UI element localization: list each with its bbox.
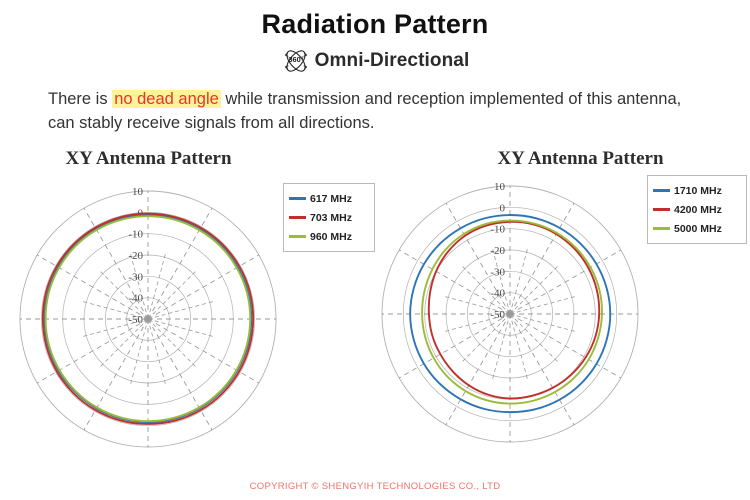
legend-label: 617 MHz xyxy=(310,193,352,205)
chart-title-right: XY Antenna Pattern xyxy=(375,146,750,172)
page-title: Radiation Pattern xyxy=(0,0,750,38)
chart-title-left: XY Antenna Pattern xyxy=(0,146,375,172)
legend-label: 1710 MHz xyxy=(674,185,722,197)
svg-text:-50: -50 xyxy=(490,309,505,321)
intro-text-before: There is xyxy=(48,90,112,108)
legend-item[interactable]: 5000 MHz xyxy=(653,219,738,238)
svg-text:-30: -30 xyxy=(490,267,505,279)
legend-item[interactable]: 1710 MHz xyxy=(653,181,738,200)
footer-copyright: COPYRIGHT © SHENGYIH TECHNOLOGIES CO., L… xyxy=(0,481,750,492)
legend-item[interactable]: 960 MHz xyxy=(289,227,366,246)
legend-swatch-5000 xyxy=(653,227,670,230)
svg-text:10: 10 xyxy=(132,186,144,198)
legend-label: 4200 MHz xyxy=(674,204,722,216)
legend-swatch-4200 xyxy=(653,208,670,211)
legend-swatch-617 xyxy=(289,197,306,200)
legend-swatch-960 xyxy=(289,235,306,238)
svg-text:-20: -20 xyxy=(490,245,505,257)
charts-container: XY Antenna Pattern 100-10-20-30-40-50 61… xyxy=(0,146,750,466)
subtitle-label: Omni-Directional xyxy=(315,50,470,72)
svg-text:-30: -30 xyxy=(128,272,143,284)
chart-xy-antenna-pattern-high: XY Antenna Pattern 100-10-20-30-40-50 17… xyxy=(375,146,750,464)
svg-text:-10: -10 xyxy=(128,229,143,241)
legend-item[interactable]: 617 MHz xyxy=(289,189,366,208)
legend-swatch-703 xyxy=(289,216,306,219)
legend-swatch-1710 xyxy=(653,189,670,192)
legend-item[interactable]: 703 MHz xyxy=(289,208,366,227)
svg-text:-20: -20 xyxy=(128,250,143,262)
svg-text:10: 10 xyxy=(494,181,506,193)
legend-right: 1710 MHz 4200 MHz 5000 MHz xyxy=(647,175,747,244)
polar-plot-left: 100-10-20-30-40-50 617 MHz 703 MHz 960 M… xyxy=(0,172,375,464)
chart-xy-antenna-pattern-low: XY Antenna Pattern 100-10-20-30-40-50 61… xyxy=(0,146,375,464)
svg-text:0: 0 xyxy=(500,203,506,215)
legend-label: 703 MHz xyxy=(310,212,352,224)
legend-left: 617 MHz 703 MHz 960 MHz xyxy=(283,183,375,252)
highlight-no-dead-angle: no dead angle xyxy=(112,90,221,108)
legend-label: 960 MHz xyxy=(310,231,352,243)
svg-text:-40: -40 xyxy=(490,288,505,300)
legend-label: 5000 MHz xyxy=(674,223,722,235)
svg-text:-40: -40 xyxy=(128,293,143,305)
360-omni-icon: 360° xyxy=(281,47,311,75)
intro-paragraph: There is no dead angle while transmissio… xyxy=(48,88,702,136)
subtitle-row: 360° Omni-Directional xyxy=(0,47,750,75)
svg-text:-50: -50 xyxy=(128,314,143,326)
svg-text:360°: 360° xyxy=(288,55,303,64)
polar-plot-right: 100-10-20-30-40-50 1710 MHz 4200 MHz 500… xyxy=(375,172,750,464)
svg-text:-10: -10 xyxy=(490,224,505,236)
legend-item[interactable]: 4200 MHz xyxy=(653,200,738,219)
